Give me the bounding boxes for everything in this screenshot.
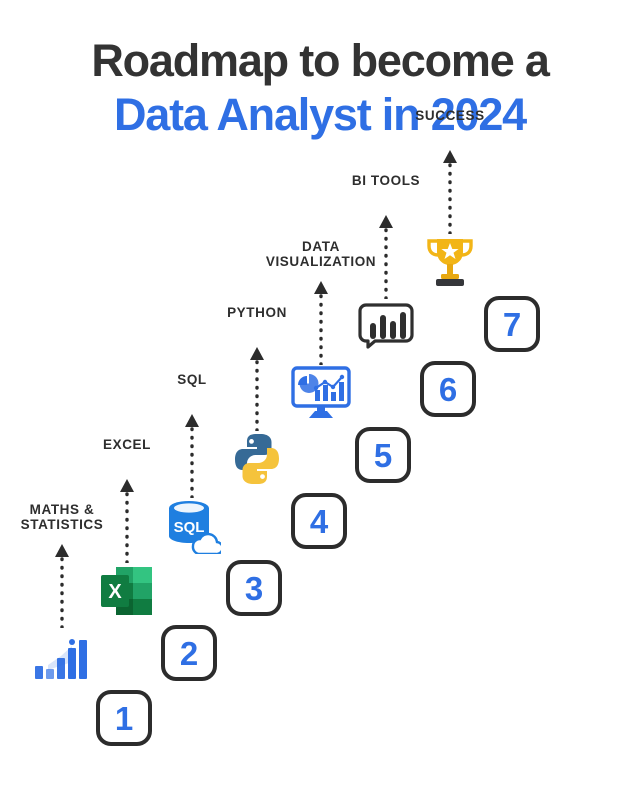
dotted-arrow-up-icon: [115, 479, 139, 563]
step-number-box-4[interactable]: 4: [291, 493, 347, 549]
step-number-box-1[interactable]: 1: [96, 690, 152, 746]
dotted-arrow-up-icon: [50, 544, 74, 628]
step-number-1: 1: [115, 702, 133, 735]
roadmap-staircase: MATHS & STATISTICS 1EXCEL X 2SQL SQL 3PY…: [0, 0, 640, 800]
roadmap-step-7[interactable]: SUCCESS 7: [412, 106, 612, 366]
step-number-2: 2: [180, 637, 198, 670]
python-icon: [227, 429, 287, 489]
step-number-3: 3: [245, 572, 263, 605]
step-number-6: 6: [439, 373, 457, 406]
dotted-arrow-up-icon: [245, 347, 269, 431]
step-number-box-2[interactable]: 2: [161, 625, 217, 681]
dotted-arrow-up-icon: [309, 281, 333, 365]
step-label-7: SUCCESS: [360, 108, 540, 123]
step-number-4: 4: [310, 505, 328, 538]
step-number-box-7[interactable]: 7: [484, 296, 540, 352]
svg-text:X: X: [108, 581, 122, 603]
dotted-arrow-up-icon: [115, 479, 139, 563]
step-number-box-3[interactable]: 3: [226, 560, 282, 616]
dotted-arrow-up-icon: [438, 150, 462, 234]
power-bi-icon: [358, 302, 414, 352]
dotted-arrow-up-icon: [309, 281, 333, 365]
excel-icon: X: [99, 565, 155, 617]
step-number-box-6[interactable]: 6: [420, 361, 476, 417]
dotted-arrow-up-icon: [374, 215, 398, 299]
step-number-box-5[interactable]: 5: [355, 427, 411, 483]
svg-text:SQL: SQL: [174, 519, 205, 536]
data-visualization-monitor-icon: [291, 366, 351, 420]
dotted-arrow-up-icon: [50, 544, 74, 628]
bar-chart-icon: [34, 632, 90, 680]
data-visualization-monitor-icon: [291, 363, 351, 423]
dotted-arrow-up-icon: [180, 414, 204, 498]
bar-chart-icon: [32, 626, 92, 686]
power-bi-icon: [356, 297, 416, 357]
step-number-7: 7: [503, 308, 521, 341]
excel-icon: X: [97, 561, 157, 621]
step-number-5: 5: [374, 439, 392, 472]
trophy-icon: [420, 232, 480, 292]
dotted-arrow-up-icon: [374, 215, 398, 299]
sql-database-icon: SQL: [162, 496, 222, 556]
dotted-arrow-up-icon: [438, 150, 462, 234]
trophy-icon: [424, 235, 476, 289]
dotted-arrow-up-icon: [245, 347, 269, 431]
sql-database-icon: SQL: [163, 498, 221, 554]
python-icon: [230, 432, 284, 486]
dotted-arrow-up-icon: [180, 414, 204, 498]
